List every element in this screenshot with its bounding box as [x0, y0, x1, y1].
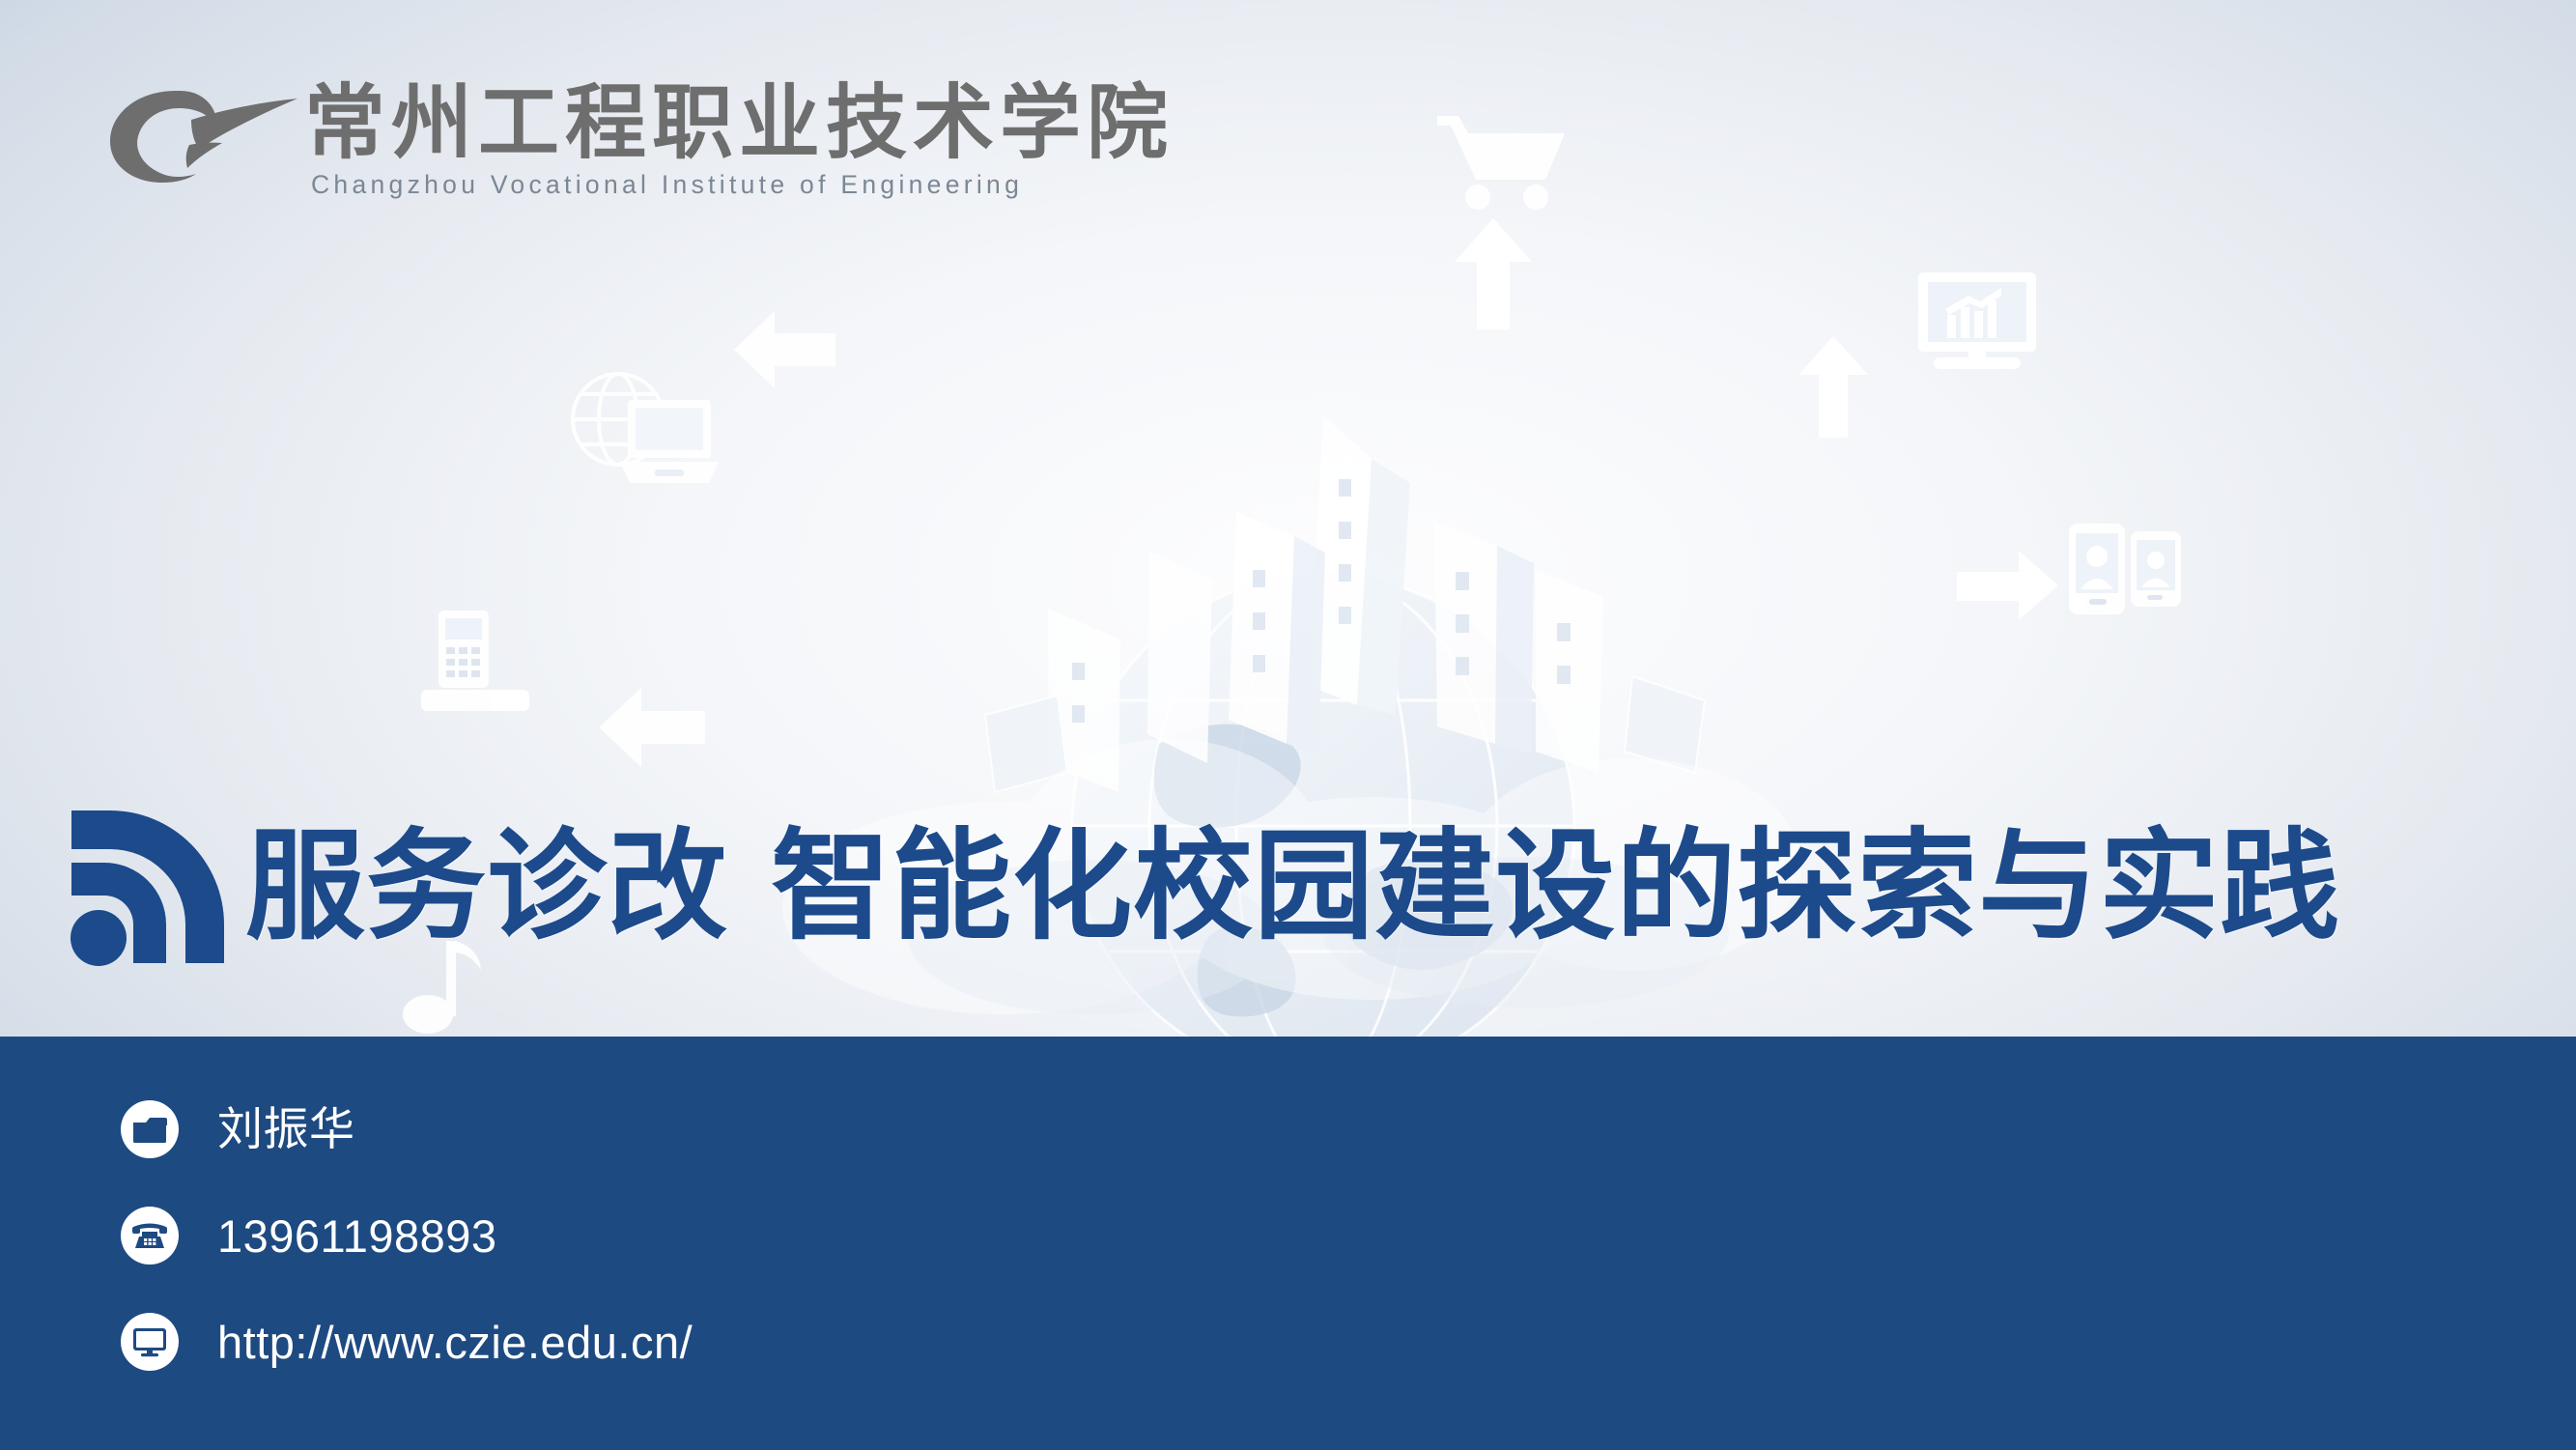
- institution-name-cn-text: 常州工程职业技术学院: [304, 75, 1174, 167]
- contact-row-website: http://www.czie.edu.cn/: [121, 1307, 693, 1377]
- up-arrow-icon-2: [1798, 336, 1868, 438]
- fax-machine-icon: [415, 611, 536, 722]
- institution-name-en: Changzhou Vocational Institute of Engine…: [311, 170, 1023, 200]
- monitor-chart-icon: [1914, 269, 2040, 375]
- shopping-cart-icon: [1431, 106, 1576, 222]
- contact-phones-icon: [2069, 522, 2199, 618]
- footer-bar: 刘振华: [0, 1037, 2576, 1450]
- slide-canvas: 常州工程职业技术学院 Changzhou Vocational Institut…: [0, 0, 2576, 1450]
- telephone-icon: [121, 1207, 179, 1265]
- contact-row-name: 刘振华: [121, 1095, 693, 1164]
- swoosh-c-logo: [106, 85, 304, 186]
- contact-row-phone: 13961198893: [121, 1201, 693, 1270]
- institution-logo: 常州工程职业技术学院 Changzhou Vocational Institut…: [106, 75, 1198, 206]
- rss-signal-icon: [60, 803, 224, 972]
- name-card-icon: [121, 1100, 179, 1158]
- contact-name: 刘振华: [217, 1107, 355, 1152]
- contact-list: 刘振华: [121, 1095, 693, 1377]
- right-arrow-icon: [1957, 551, 2058, 620]
- left-arrow-icon-2: [599, 688, 705, 767]
- title-row: 服务诊改 智能化校园建设的探索与实践: [60, 790, 2533, 983]
- left-arrow-icon: [734, 311, 835, 388]
- page-title: 服务诊改 智能化校园建设的探索与实践: [245, 827, 2340, 947]
- institution-name-cn: 常州工程职业技术学院: [304, 75, 1203, 167]
- contact-phone: 13961198893: [217, 1213, 497, 1259]
- monitor-icon: [121, 1313, 179, 1371]
- globe-laptop-icon: [558, 359, 722, 504]
- up-arrow-icon: [1455, 218, 1532, 329]
- contact-website: http://www.czie.edu.cn/: [217, 1320, 693, 1365]
